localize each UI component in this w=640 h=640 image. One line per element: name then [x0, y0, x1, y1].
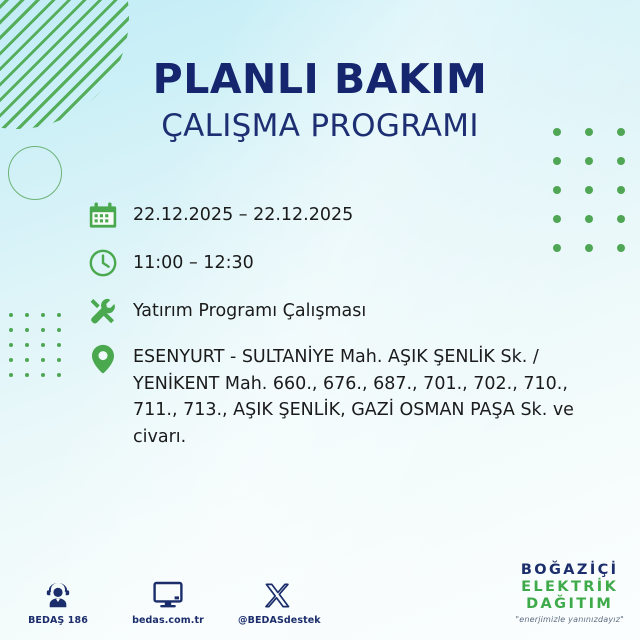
brand-line-bogazici: BOĞAZİÇİ [515, 562, 624, 579]
x-twitter-icon [238, 575, 318, 609]
calendar-icon [86, 198, 120, 232]
brand-tagline: "enerjimizle yanınızdayız" [515, 615, 624, 624]
website-label: bedas.com.tr [128, 615, 208, 626]
contact-call-center[interactable]: BEDAŞ 186 [18, 575, 98, 626]
poster-footer: BEDAŞ 186 bedas.com.tr [0, 548, 640, 640]
clock-icon [86, 246, 120, 280]
monitor-icon [128, 575, 208, 609]
detail-row-address: ESENYURT - SULTANİYE Mah. AŞIK ŞENLİK Sk… [86, 342, 606, 450]
tools-icon [86, 294, 120, 328]
outage-details-list: 22.12.2025 – 22.12.2025 11:00 – 12:30 [86, 198, 606, 464]
page-title: PLANLI BAKIM [0, 58, 640, 101]
detail-row-time: 11:00 – 12:30 [86, 246, 606, 280]
date-range-value: 22.12.2025 – 22.12.2025 [133, 198, 353, 229]
contact-website[interactable]: bedas.com.tr [128, 575, 208, 626]
contact-channels: BEDAŞ 186 bedas.com.tr [18, 575, 318, 626]
location-pin-icon [86, 342, 120, 376]
detail-row-work-type: Yatırım Programı Çalışması [86, 294, 606, 328]
poster-heading: PLANLI BAKIM ÇALIŞMA PROGRAMI [0, 58, 640, 146]
call-center-label: BEDAŞ 186 [18, 615, 98, 626]
x-account-label: @BEDASdestek [238, 615, 318, 626]
bedas-logo: BOĞAZİÇİ ELEKTRİK DAĞITIM "enerjimizle y… [515, 562, 624, 624]
brand-line-elektrik: ELEKTRİK [515, 579, 624, 596]
circle-outline-decoration [8, 146, 62, 200]
detail-row-date: 22.12.2025 – 22.12.2025 [86, 198, 606, 232]
left-dot-grid-decoration [9, 313, 73, 388]
call-center-agent-icon [18, 575, 98, 609]
planned-maintenance-poster: PLANLI BAKIM ÇALIŞMA PROGRAMI [0, 0, 640, 640]
address-value: ESENYURT - SULTANİYE Mah. AŞIK ŞENLİK Sk… [133, 342, 606, 450]
time-range-value: 11:00 – 12:30 [133, 246, 254, 277]
contact-x-account[interactable]: @BEDASdestek [238, 575, 318, 626]
work-type-value: Yatırım Programı Çalışması [133, 294, 366, 325]
brand-line-dagitim: DAĞITIM [515, 596, 624, 613]
page-subtitle: ÇALIŞMA PROGRAMI [0, 107, 640, 146]
